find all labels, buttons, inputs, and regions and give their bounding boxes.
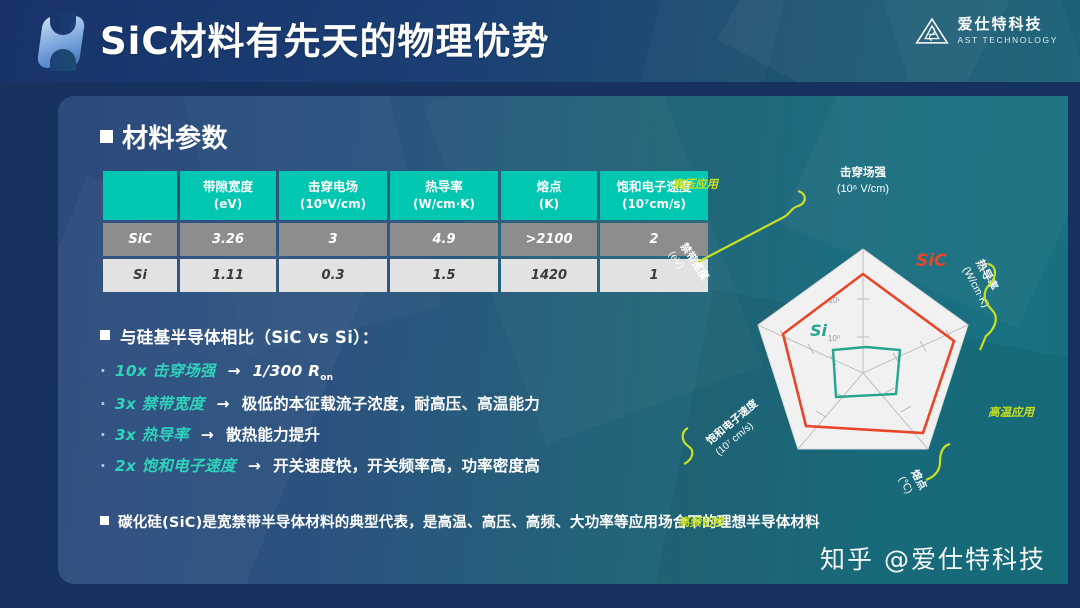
list-item: · 10x 击穿场强 → 1/300 Ron xyxy=(100,359,660,383)
row-label: Si xyxy=(103,259,177,292)
dot-bullet-icon: · xyxy=(100,428,106,443)
callout-high-temperature: 高温应用 xyxy=(988,405,1035,419)
brace-high-temperature-icon-2 xyxy=(926,444,950,480)
arrow-icon: → xyxy=(201,426,214,444)
list-item-highlight: 3x 热导率 xyxy=(115,423,189,445)
list-item-highlight: 2x 饱和电子速度 xyxy=(115,454,236,476)
brand-name-cn: 爱仕特科技 xyxy=(958,17,1059,32)
brand-logo: 爱仕特科技 AST TECHNOLOGY xyxy=(915,16,1059,46)
table-cell: 1.5 xyxy=(390,259,498,292)
slide: SiC材料有先天的物理优势 爱仕特科技 AST TECHNOLOGY 材料参数 xyxy=(0,0,1080,608)
section-heading: 材料参数 xyxy=(100,118,228,155)
table-cell: 0.3 xyxy=(279,259,387,292)
radar-chart: 10¹ 10⁰ SiC Si 击穿场强 (10⁶ V/cm) 热导率 (W/cm… xyxy=(658,154,1068,574)
content-card: 材料参数 带隙宽度(eV) 击穿电场(10⁶V/cm) 热导率(W/cm·K) … xyxy=(58,96,1068,584)
table-cell: >2100 xyxy=(501,223,597,256)
brace-high-frequency-icon xyxy=(683,428,693,464)
arrow-icon: → xyxy=(227,362,240,380)
dot-bullet-icon: · xyxy=(100,364,106,379)
square-bullet-icon xyxy=(100,130,113,143)
bullet-block: 与硅基半导体相比（SiC vs Si）： · 10x 击穿场强 → 1/300 … xyxy=(100,324,660,485)
radar-axis-unit-breakdown: (10⁶ V/cm) xyxy=(837,183,889,195)
radar-legend-si: Si xyxy=(810,321,828,340)
table-cell: 1.11 xyxy=(180,259,276,292)
section-heading-label: 材料参数 xyxy=(122,118,228,155)
list-item: · 3x 禁带宽度 → 极低的本征载流子浓度，耐高压、高温能力 xyxy=(100,392,660,414)
table-cell: 1420 xyxy=(501,259,597,292)
table-header-cell xyxy=(103,171,177,220)
slide-header: SiC材料有先天的物理优势 爱仕特科技 AST TECHNOLOGY xyxy=(0,0,1080,82)
list-item: · 2x 饱和电子速度 → 开关速度快，开关频率高，功率密度高 xyxy=(100,454,660,476)
table-header-cell: 带隙宽度(eV) xyxy=(180,171,276,220)
table-cell: 3 xyxy=(279,223,387,256)
material-parameters-table: 带隙宽度(eV) 击穿电场(10⁶V/cm) 热导率(W/cm·K) 熔点(K)… xyxy=(100,168,711,295)
table-row: Si 1.11 0.3 1.5 1420 1 xyxy=(103,259,708,292)
square-bullet-icon xyxy=(100,516,109,525)
radar-tick-label: 10⁰ xyxy=(828,334,840,343)
brand-name-en: AST TECHNOLOGY xyxy=(958,36,1059,45)
arrow-icon: → xyxy=(217,395,230,413)
list-item-highlight: 10x 击穿场强 xyxy=(115,359,216,381)
list-item-rest: 散热能力提升 xyxy=(226,423,320,445)
dot-bullet-icon: · xyxy=(100,459,106,474)
table-header-cell: 击穿电场(10⁶V/cm) xyxy=(279,171,387,220)
list-item: · 3x 热导率 → 散热能力提升 xyxy=(100,423,660,445)
arrow-icon: → xyxy=(248,457,261,475)
bullet-main-label: 与硅基半导体相比（SiC vs Si）： xyxy=(120,324,379,348)
radar-legend-sic: SiC xyxy=(916,251,947,271)
row-label: SiC xyxy=(103,223,177,256)
table-header-row: 带隙宽度(eV) 击穿电场(10⁶V/cm) 热导率(W/cm·K) 熔点(K)… xyxy=(103,171,708,220)
table-header-cell: 热导率(W/cm·K) xyxy=(390,171,498,220)
wave-logo-icon xyxy=(40,16,88,68)
page-title: SiC材料有先天的物理优势 xyxy=(100,11,549,65)
callout-high-voltage: 高压应用 xyxy=(672,177,719,191)
brace-high-voltage-icon xyxy=(698,191,805,262)
callout-high-frequency: 高频切换 xyxy=(678,515,725,529)
list-item-rest: 极低的本征载流子浓度，耐高压、高温能力 xyxy=(242,392,540,414)
radar-axis-label-breakdown: 击穿场强 xyxy=(840,165,886,179)
bullet-main: 与硅基半导体相比（SiC vs Si）： xyxy=(100,324,660,348)
square-bullet-icon xyxy=(100,330,110,340)
list-item-highlight: 3x 禁带宽度 xyxy=(115,392,205,414)
table-cell: 3.26 xyxy=(180,223,276,256)
list-item-rest: 开关速度快，开关频率高，功率密度高 xyxy=(273,454,540,476)
table-cell: 4.9 xyxy=(390,223,498,256)
dot-bullet-icon: · xyxy=(100,397,106,412)
triangle-a-logo-icon xyxy=(915,16,949,46)
watermark: 知乎 @爱仕特科技 xyxy=(820,540,1046,576)
table-header-cell: 熔点(K) xyxy=(501,171,597,220)
table-row: SiC 3.26 3 4.9 >2100 2 xyxy=(103,223,708,256)
list-item-rest: 1/300 Ron xyxy=(253,362,334,383)
